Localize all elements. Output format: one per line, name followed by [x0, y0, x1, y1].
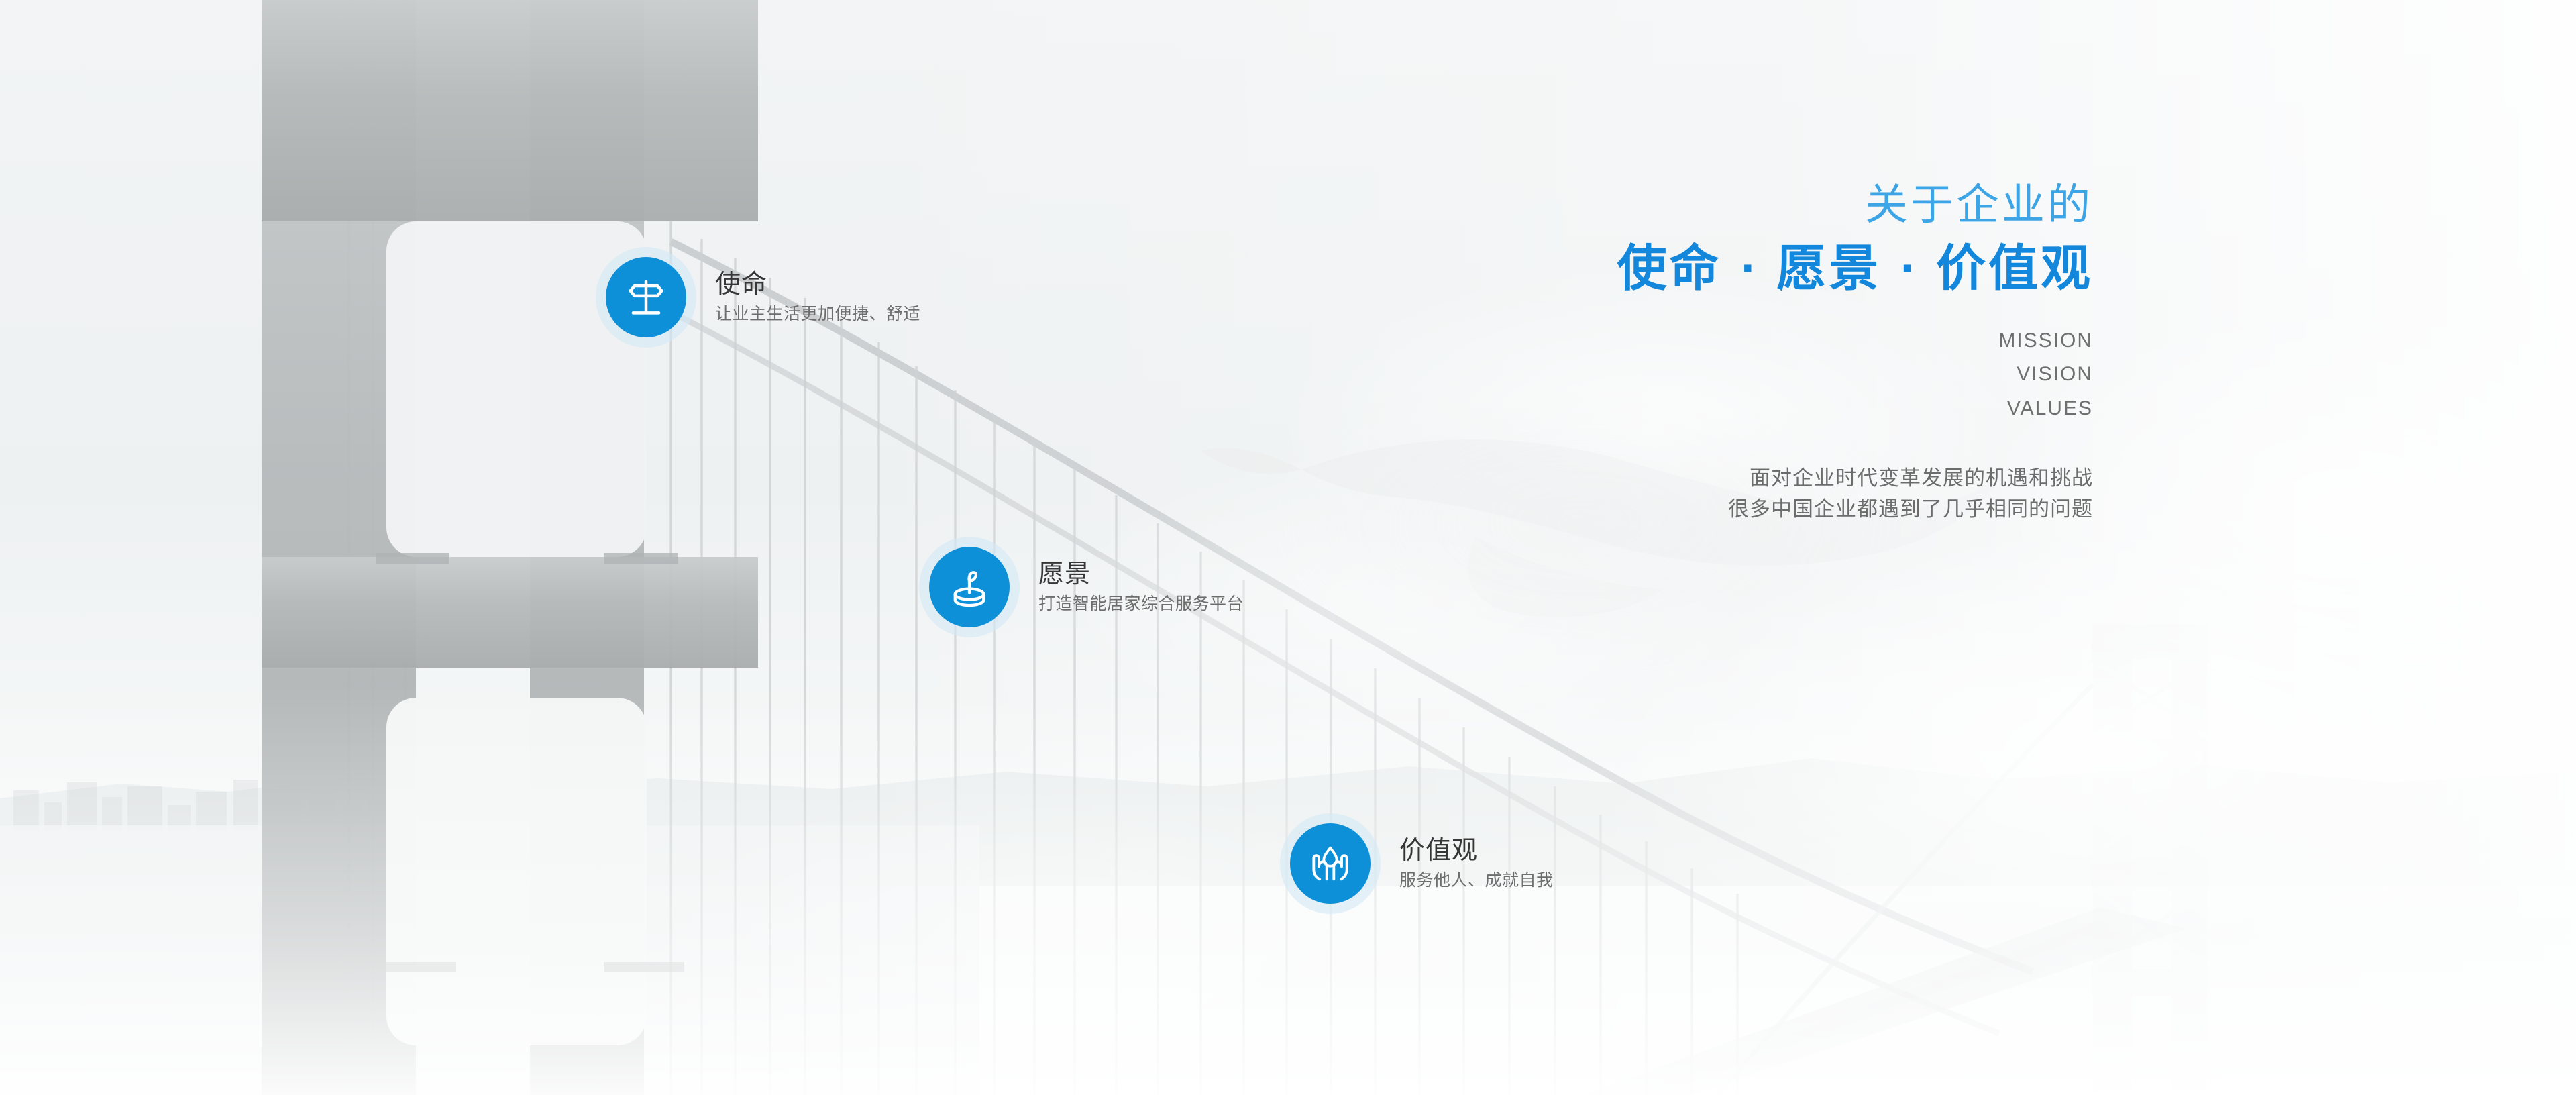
english-label-mission: MISSION: [1382, 324, 2093, 358]
signpost-icon: [623, 274, 669, 320]
lede-line-1: 面对企业时代变革发展的机遇和挑战: [1382, 463, 2093, 494]
feature-title: 使命: [715, 270, 920, 300]
feature-subtitle: 让业主生活更加便捷、舒适: [715, 304, 920, 325]
feature-title: 价值观: [1399, 836, 1554, 866]
vision-icon-badge: [919, 537, 1020, 637]
background-image-layer: [0, 0, 2576, 1095]
kicker-heading: 关于企业的: [1382, 181, 2093, 229]
values-icon-badge: [1280, 813, 1381, 914]
headline-part-mission: 使命: [1617, 240, 1721, 296]
headline-part-vision: 愿景: [1776, 240, 1881, 296]
mission-icon-badge: [596, 247, 696, 348]
values-text-block: 价值观 服务他人、成就自我: [1399, 836, 1554, 891]
main-headline: 使命 · 愿景 · 价值观: [1382, 239, 2093, 297]
sprout-in-pot-icon: [947, 564, 992, 610]
feature-item-mission[interactable]: 使命 让业主生活更加便捷、舒适: [596, 247, 920, 348]
feature-item-values[interactable]: 价值观 服务他人、成就自我: [1280, 813, 1554, 914]
english-label-list: MISSION VISION VALUES: [1382, 324, 2093, 425]
heading-block: 关于企业的 使命 · 愿景 · 价值观 MISSION VISION VALUE…: [1382, 181, 2093, 525]
feature-item-vision[interactable]: 愿景 打造智能居家综合服务平台: [919, 537, 1244, 637]
vision-text-block: 愿景 打造智能居家综合服务平台: [1038, 560, 1244, 615]
bridge-fog-illustration: [0, 0, 2576, 1095]
feature-subtitle: 打造智能居家综合服务平台: [1038, 594, 1244, 615]
headline-separator-2: ·: [1898, 240, 1920, 296]
lede-paragraph: 面对企业时代变革发展的机遇和挑战 很多中国企业都遇到了几乎相同的问题: [1382, 463, 2093, 525]
hands-holding-droplet-icon: [1307, 841, 1353, 886]
headline-separator-1: ·: [1738, 240, 1760, 296]
feature-subtitle: 服务他人、成就自我: [1399, 870, 1554, 891]
english-label-vision: VISION: [1382, 358, 2093, 391]
feature-title: 愿景: [1038, 560, 1244, 590]
english-label-values: VALUES: [1382, 392, 2093, 425]
about-enterprise-banner: 使命 让业主生活更加便捷、舒适 愿景 打造智能居家综合服务平台: [0, 0, 2576, 1095]
headline-part-values: 价值观: [1936, 240, 2093, 296]
mission-text-block: 使命 让业主生活更加便捷、舒适: [715, 270, 920, 325]
lede-line-2: 很多中国企业都遇到了几乎相同的问题: [1382, 494, 2093, 525]
